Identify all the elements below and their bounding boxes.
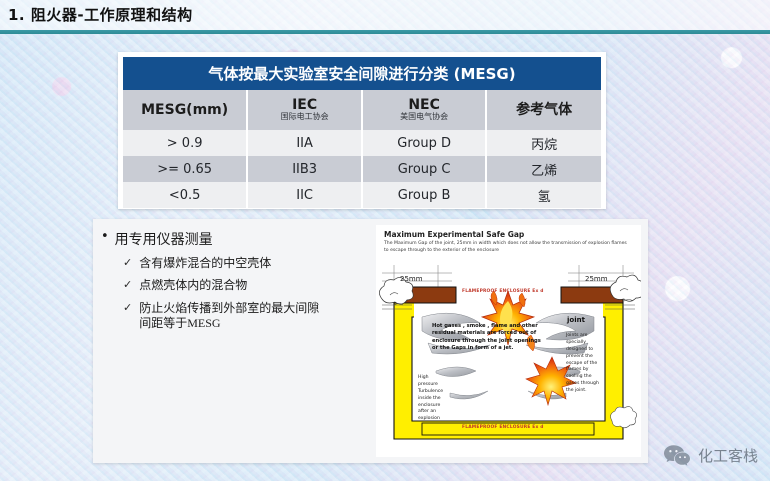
bullet-list: • 用专用仪器测量 ✓ 含有爆炸混合的中空壳体 ✓ 点燃壳体内的混合物 ✓ 防止… <box>101 229 366 331</box>
check-icon: ✓ <box>123 301 132 315</box>
check-icon: ✓ <box>123 256 132 270</box>
list-item-label-cont: 间距等于MESG <box>139 316 220 330</box>
column-header-nec-sub: 美国电气协会 <box>363 113 485 122</box>
cell-nec: Group C <box>362 156 486 182</box>
cell-nec: Group B <box>362 182 486 208</box>
cell-mesg: >= 0.65 <box>123 156 247 182</box>
wechat-icon <box>663 443 691 467</box>
title-divider <box>0 30 770 34</box>
column-header-iec: IEC 国际电工协会 <box>247 90 362 130</box>
bullet-dot-icon: • <box>101 229 109 245</box>
column-header-mesg-main: MESG(mm) <box>123 103 246 118</box>
cell-nec: Group D <box>362 130 486 156</box>
joint-label: joint <box>567 316 585 324</box>
bullet-main-label: 用专用仪器测量 <box>115 229 213 249</box>
dimension-label-left: 25mm <box>400 275 423 283</box>
cell-gas: 乙烯 <box>486 156 601 182</box>
cell-iec: IIC <box>247 182 362 208</box>
list-item-label: 含有爆炸混合的中空壳体 <box>139 256 271 271</box>
left-annotation: High pressure Turbulence inside the encl… <box>418 375 448 423</box>
column-header-mesg: MESG(mm) <box>123 90 247 130</box>
column-header-gas: 参考气体 <box>486 90 601 130</box>
table-row: > 0.9 IIA Group D 丙烷 <box>123 130 601 156</box>
column-header-gas-main: 参考气体 <box>487 103 601 118</box>
mesg-diagram: Maximum Experimental Safe Gap The Maximu… <box>376 225 641 457</box>
cell-mesg: > 0.9 <box>123 130 247 156</box>
mesg-table-title: 气体按最大实验室安全间隙进行分类 (MESG) <box>123 57 601 90</box>
column-header-iec-sub: 国际电工协会 <box>248 113 361 122</box>
center-annotation: Hot gases , smoke , flame and other resi… <box>432 323 544 353</box>
list-item-label: 防止火焰传播到外部室的最大间隙 <box>139 301 319 315</box>
mesg-table-card: 气体按最大实验室安全间隙进行分类 (MESG) MESG(mm) IEC 国际电… <box>118 52 606 209</box>
page-title: 1. 阻火器-工作原理和结构 <box>8 4 193 25</box>
list-item-label: 点燃壳体内的混合物 <box>139 278 247 293</box>
cell-gas: 丙烷 <box>486 130 601 156</box>
content-card: • 用专用仪器测量 ✓ 含有爆炸混合的中空壳体 ✓ 点燃壳体内的混合物 ✓ 防止… <box>93 219 648 463</box>
table-row: <0.5 IIC Group B 氢 <box>123 182 601 208</box>
watermark: 化工客栈 <box>663 443 758 467</box>
flameproof-label-top: FLAMEPROOF ENCLOSURE Ex d <box>462 289 544 294</box>
watermark-label: 化工客栈 <box>698 445 758 466</box>
check-icon: ✓ <box>123 278 132 292</box>
table-row: >= 0.65 IIB3 Group C 乙烯 <box>123 156 601 182</box>
cell-iec: IIB3 <box>247 156 362 182</box>
cell-mesg: <0.5 <box>123 182 247 208</box>
column-header-nec-main: NEC <box>363 98 485 113</box>
flameproof-label-bottom: FLAMEPROOF ENCLOSURE Ex d <box>462 425 544 430</box>
list-item: ✓ 防止火焰传播到外部室的最大间隙 间距等于MESG <box>123 301 366 332</box>
column-header-nec: NEC 美国电气协会 <box>362 90 486 130</box>
mesg-table: MESG(mm) IEC 国际电工协会 NEC 美国电气协会 参考气体 > 0.… <box>123 90 601 208</box>
cell-iec: IIA <box>247 130 362 156</box>
bullet-main: • 用专用仪器测量 <box>101 229 366 249</box>
list-item-label-wrap: 防止火焰传播到外部室的最大间隙 间距等于MESG <box>139 301 319 332</box>
cell-gas: 氢 <box>486 182 601 208</box>
table-header-row: MESG(mm) IEC 国际电工协会 NEC 美国电气协会 参考气体 <box>123 90 601 130</box>
list-item: ✓ 含有爆炸混合的中空壳体 <box>123 256 366 271</box>
right-annotation: Joints are specially designed to prevent… <box>566 333 606 395</box>
column-header-iec-main: IEC <box>248 98 361 113</box>
dimension-label-right: 25mm <box>585 275 608 283</box>
list-item: ✓ 点燃壳体内的混合物 <box>123 278 366 293</box>
